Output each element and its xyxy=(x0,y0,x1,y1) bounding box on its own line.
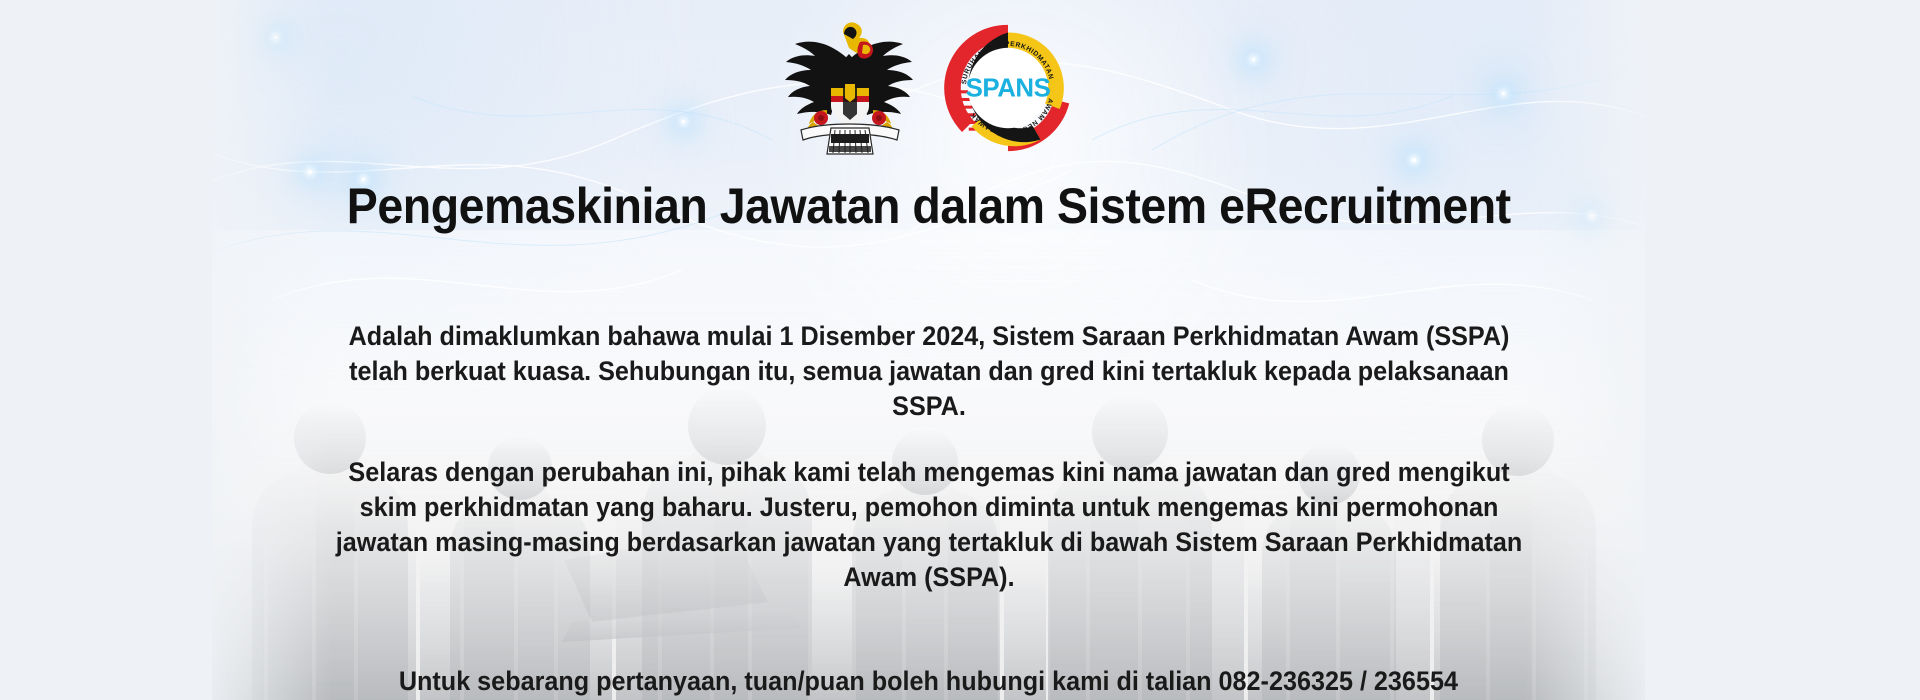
paragraph-1: Adalah dimaklumkan bahawa mulai 1 Disemb… xyxy=(335,319,1523,425)
logo-row: SURUHANJAYA PERKHIDMATAN AWAM NEGERI SAR… xyxy=(783,18,1075,158)
announcement-body: Adalah dimaklumkan bahawa mulai 1 Disemb… xyxy=(335,293,1523,623)
contact-line: Untuk sebarang pertanyaan, tuan/puan bol… xyxy=(399,664,1458,698)
page-title: Pengemaskinian Jawatan dalam Sistem eRec… xyxy=(347,180,1511,233)
page-root: SURUHANJAYA PERKHIDMATAN AWAM NEGERI SAR… xyxy=(0,0,1920,700)
announcement-banner: SURUHANJAYA PERKHIDMATAN AWAM NEGERI SAR… xyxy=(212,0,1645,700)
paragraph-2: Selaras dengan perubahan ini, pihak kami… xyxy=(335,455,1523,596)
svg-text:SPANS: SPANS xyxy=(965,75,1050,103)
banner-content: SURUHANJAYA PERKHIDMATAN AWAM NEGERI SAR… xyxy=(212,0,1645,700)
sarawak-coat-of-arms-icon xyxy=(783,18,915,158)
spans-logo-icon: SURUHANJAYA PERKHIDMATAN AWAM NEGERI SAR… xyxy=(941,21,1075,155)
